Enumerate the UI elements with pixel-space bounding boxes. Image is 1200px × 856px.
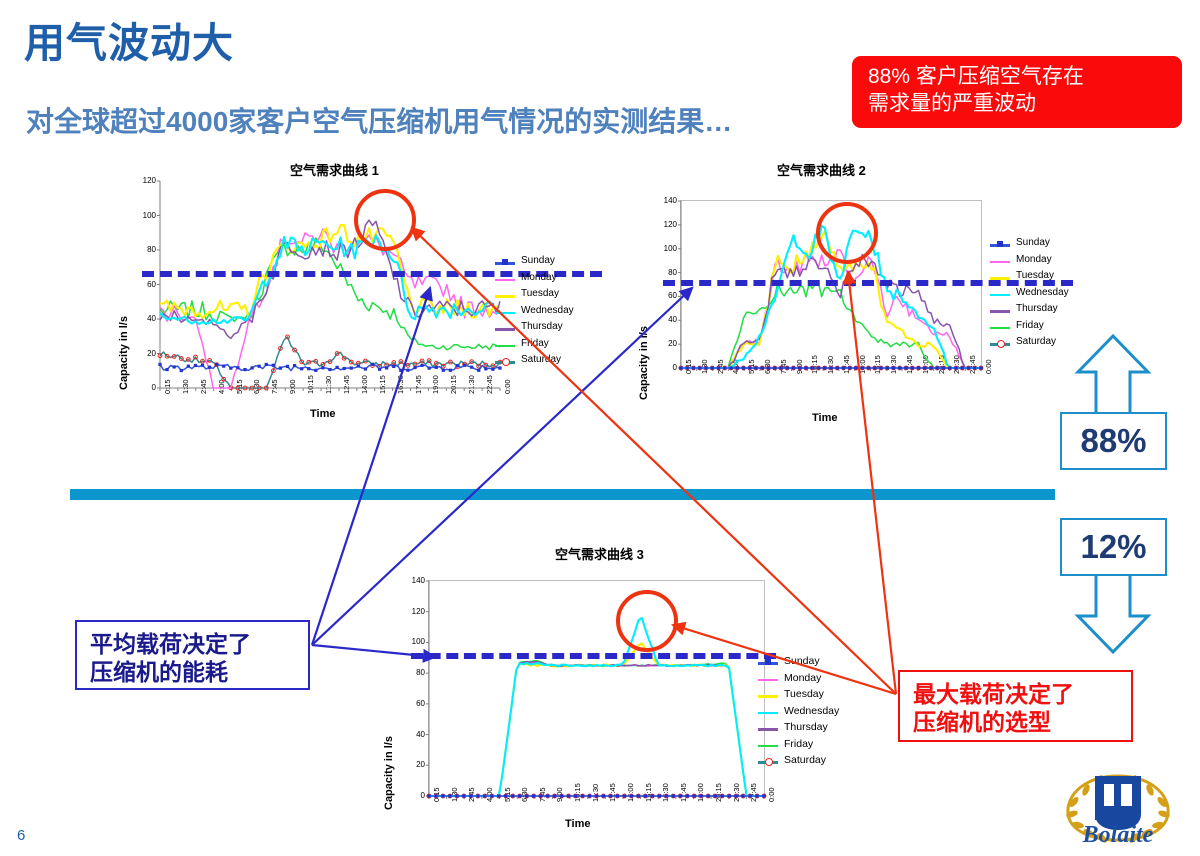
chart3-marker-sunday [748, 794, 751, 797]
chart1-marker-sunday [173, 365, 176, 368]
chart2-y-tick-label: 120 [651, 220, 677, 229]
chart3-series-thursday [429, 662, 764, 797]
chart3-title: 空气需求曲线 3 [555, 544, 644, 563]
chart2-marker-sunday [936, 366, 939, 369]
legend-label-wednesday: Wednesday [521, 305, 574, 316]
chart2-marker-sunday [961, 366, 964, 369]
chart1-marker-sunday [491, 368, 494, 371]
chart1-x-tick-label: 0:00 [503, 379, 512, 394]
chart3-marker-sunday [581, 794, 584, 797]
legend-swatch-wednesday [495, 312, 515, 315]
chart1-marker-sunday [442, 369, 445, 372]
average-load-box: 平均载荷决定了 压缩机的能耗 [75, 620, 310, 690]
chart3-marker-sunday [728, 794, 731, 797]
chart1-marker-sunday [165, 368, 168, 371]
chart3-marker-sunday [441, 794, 444, 797]
chart3-marker-sunday [504, 794, 507, 797]
chart2-marker-sunday [736, 366, 739, 369]
chart3-average-load-line [411, 653, 776, 659]
chart2-marker-sunday [861, 366, 864, 369]
chart3-marker-sunday [539, 794, 542, 797]
chart2-y-tick-label: 20 [651, 339, 677, 348]
legend-swatch-thursday [495, 328, 515, 331]
percent-88-value: 88% [1080, 422, 1146, 460]
chart2-plot-area: 0204060801001201400:151:302:454:005:156:… [680, 200, 982, 369]
chart1-x-axis-label: Time [310, 408, 335, 420]
legend-marker-saturday [997, 340, 1005, 348]
chart3-marker-sunday [637, 794, 640, 797]
legend-label-saturday: Saturday [784, 754, 826, 766]
legend-swatch-tuesday [758, 695, 778, 698]
chart2-marker-sunday [973, 366, 976, 369]
percent-12-value: 12% [1080, 528, 1146, 566]
chart2-marker-sunday [892, 366, 895, 369]
chart2-y-tick-label: 80 [651, 268, 677, 277]
legend-label-friday: Friday [521, 338, 549, 349]
chart1-y-tick-label: 120 [130, 176, 156, 185]
chart1-marker-sunday [314, 369, 317, 372]
chart1-marker-sunday [272, 364, 275, 367]
percent-12-box: 12% [1060, 518, 1167, 576]
chart3-y-tick-label: 20 [399, 760, 425, 769]
legend-swatch-wednesday [990, 294, 1010, 297]
chart2-marker-sunday [786, 366, 789, 369]
chart2-series-thursday [681, 255, 981, 368]
chart3-marker-sunday [567, 794, 570, 797]
chart2-marker-sunday [829, 366, 832, 369]
chart3-marker-sunday [518, 794, 521, 797]
chart2-marker-sunday [754, 366, 757, 369]
chart1-marker-sunday [229, 367, 232, 370]
chart1-marker-sunday [350, 366, 353, 369]
chart1-y-tick-label: 40 [130, 314, 156, 323]
chart2-y-tick-label: 40 [651, 315, 677, 324]
chart3-marker-sunday [497, 794, 500, 797]
legend-label-monday: Monday [521, 272, 557, 283]
chart2-marker-sunday [848, 366, 851, 369]
chart3-y-tick-label: 140 [399, 576, 425, 585]
chart1-marker-sunday [406, 369, 409, 372]
chart3-marker-sunday [476, 794, 479, 797]
chart3-marker-sunday [658, 794, 661, 797]
chart1-marker-sunday [328, 368, 331, 371]
chart2-marker-sunday [979, 366, 982, 369]
chart3-marker-sunday [700, 794, 703, 797]
chart2-marker-sunday [923, 366, 926, 369]
chart1-y-tick-label: 0 [130, 383, 156, 392]
chart1-marker-sunday [258, 365, 261, 368]
chart2-marker-sunday [729, 366, 732, 369]
chart3-marker-sunday [560, 794, 563, 797]
legend-swatch-thursday [990, 310, 1010, 313]
legend-label-friday: Friday [1016, 320, 1044, 331]
chart2-marker-sunday [873, 366, 876, 369]
chart1-axes [160, 181, 500, 388]
legend-label-wednesday: Wednesday [784, 705, 839, 717]
legend-swatch-tuesday [495, 295, 515, 298]
red-callout-line2: 需求量的严重波动 [868, 91, 1168, 118]
chart3-x-tick-label: 0:00 [767, 787, 776, 802]
chart1-marker-sunday [357, 364, 360, 367]
chart3-marker-sunday [448, 794, 451, 797]
chart-air-demand-1: 空气需求曲线 1 Capacity in l/s Time 0204060801… [110, 160, 530, 425]
legend-marker-sunday [765, 659, 771, 665]
chart2-marker-sunday [679, 366, 682, 369]
chart3-marker-sunday [532, 794, 535, 797]
legend-label-thursday: Thursday [784, 721, 828, 733]
chart2-marker-sunday [798, 366, 801, 369]
legend-label-sunday: Sunday [784, 655, 820, 667]
chart1-marker-sunday [194, 364, 197, 367]
chart1-series-wednesday [160, 235, 500, 324]
chart1-marker-sunday [392, 365, 395, 368]
legend-label-sunday: Sunday [1016, 237, 1050, 248]
chart3-marker-sunday [490, 794, 493, 797]
legend-marker-saturday [502, 358, 510, 366]
chart2-y-tick-label: 100 [651, 244, 677, 253]
chart3-marker-sunday [623, 794, 626, 797]
chart2-marker-sunday [711, 366, 714, 369]
chart1-marker-sunday [215, 363, 218, 366]
chart1-marker-sunday [250, 366, 253, 369]
max-load-line2: 压缩机的选型 [913, 708, 1051, 737]
legend-swatch-friday [495, 345, 515, 348]
chart2-x-axis-label: Time [812, 412, 837, 424]
legend-label-monday: Monday [1016, 254, 1052, 265]
chart3-marker-sunday [714, 794, 717, 797]
chart1-marker-sunday [236, 366, 239, 369]
chart3-marker-sunday [427, 794, 430, 797]
chart1-marker-sunday [428, 367, 431, 370]
chart2-marker-sunday [942, 366, 945, 369]
legend-label-saturday: Saturday [521, 354, 561, 365]
chart2-marker-sunday [929, 366, 932, 369]
legend-swatch-tuesday [990, 277, 1010, 280]
legend-swatch-friday [990, 327, 1010, 330]
chart2-marker-sunday [948, 366, 951, 369]
chart1-marker-sunday [420, 364, 423, 367]
chart3-marker-sunday [525, 794, 528, 797]
chart2-marker-sunday [698, 366, 701, 369]
chart1-marker-sunday [321, 366, 324, 369]
chart3-marker-sunday [741, 794, 744, 797]
chart3-marker-sunday [602, 794, 605, 797]
chart3-x-axis-label: Time [565, 818, 590, 830]
chart2-marker-sunday [904, 366, 907, 369]
chart1-marker-sunday [413, 366, 416, 369]
chart2-marker-sunday [854, 366, 857, 369]
chart2-marker-sunday [954, 366, 957, 369]
legend-label-friday: Friday [784, 738, 813, 750]
chart1-marker-sunday [378, 368, 381, 371]
chart2-marker-sunday [967, 366, 970, 369]
red-callout-line1: 88% 客户压缩空气存在 [868, 64, 1168, 91]
chart3-marker-sunday [553, 794, 556, 797]
chart3-series-wednesday [429, 618, 764, 796]
legend-swatch-monday [990, 261, 1010, 264]
chart1-marker-sunday [484, 367, 487, 370]
max-load-box: 最大载荷决定了 压缩机的选型 [898, 670, 1133, 742]
legend-swatch-thursday [758, 728, 778, 731]
chart2-marker-sunday [823, 366, 826, 369]
legend-marker-sunday [502, 259, 508, 265]
legend-label-thursday: Thursday [521, 321, 563, 332]
percent-88-box: 88% [1060, 412, 1167, 470]
chart3-marker-sunday [672, 794, 675, 797]
chart3-marker-sunday [644, 794, 647, 797]
chart1-marker-sunday [463, 364, 466, 367]
chart3-marker-sunday [665, 794, 668, 797]
page-subtitle: 对全球超过4000家客户空气压缩机用气情况的实测结果… [26, 100, 732, 140]
chart2-marker-sunday [898, 366, 901, 369]
chart1-marker-sunday [201, 364, 204, 367]
chart2-marker-sunday [879, 366, 882, 369]
red-callout-box: 88% 客户压缩空气存在 需求量的严重波动 [852, 56, 1182, 128]
chart2-marker-sunday [704, 366, 707, 369]
chart2-marker-sunday [911, 366, 914, 369]
average-load-line1: 平均载荷决定了 [90, 630, 251, 659]
chart3-peak-load-highlight [616, 590, 678, 652]
chart3-marker-sunday [588, 794, 591, 797]
chart3-series-canvas [429, 581, 764, 796]
chart3-marker-sunday [511, 794, 514, 797]
legend-swatch-monday [758, 679, 778, 682]
chart1-marker-sunday [456, 364, 459, 367]
legend-label-sunday: Sunday [521, 255, 555, 266]
legend-marker-saturday [765, 758, 773, 766]
chart3-y-tick-label: 100 [399, 637, 425, 646]
chart1-title: 空气需求曲线 1 [290, 160, 379, 179]
chart3-marker-sunday [755, 794, 758, 797]
chart3-series-monday [429, 663, 764, 797]
chart1-marker-sunday [371, 363, 374, 366]
chart2-marker-sunday [717, 366, 720, 369]
chart2-marker-sunday [742, 366, 745, 369]
chart1-series-canvas [160, 181, 500, 388]
chart1-y-tick-label: 20 [130, 349, 156, 358]
chart1-marker-sunday [435, 366, 438, 369]
chart-air-demand-2: 空气需求曲线 2 Capacity in l/s Time 0204060801… [632, 160, 1072, 425]
chart3-marker-sunday [595, 794, 598, 797]
chart3-marker-sunday [469, 794, 472, 797]
chart3-axes [429, 581, 764, 796]
legend-marker-sunday [997, 241, 1003, 247]
chart2-marker-sunday [686, 366, 689, 369]
page-title: 用气波动大 [24, 22, 234, 65]
chart2-y-tick-label: 0 [651, 363, 677, 372]
chart3-y-tick-label: 120 [399, 607, 425, 616]
chart3-marker-sunday [686, 794, 689, 797]
legend-label-tuesday: Tuesday [521, 288, 559, 299]
chart1-marker-sunday [208, 366, 211, 369]
chart2-peak-load-highlight [816, 202, 878, 264]
chart1-marker-sunday [307, 367, 310, 370]
chart3-marker-sunday [434, 794, 437, 797]
chart3-marker-sunday [462, 794, 465, 797]
chart1-marker-sunday [243, 368, 246, 371]
chart1-marker-sunday [449, 369, 452, 372]
chart3-marker-sunday [455, 794, 458, 797]
average-load-line2: 压缩机的能耗 [90, 658, 228, 687]
chart2-marker-sunday [792, 366, 795, 369]
chart2-marker-sunday [917, 366, 920, 369]
chart3-marker-sunday [679, 794, 682, 797]
chart2-x-tick-label: 0:00 [984, 359, 993, 374]
chart1-marker-sunday [286, 365, 289, 368]
chart3-marker-sunday [651, 794, 654, 797]
chart1-marker-sunday [158, 363, 161, 366]
chart1-marker-sunday [222, 365, 225, 368]
chart2-marker-sunday [811, 366, 814, 369]
chart1-plot-area: 0204060801001200:151:302:454:005:156:307… [160, 181, 500, 388]
legend-label-monday: Monday [784, 672, 821, 684]
chart2-marker-sunday [804, 366, 807, 369]
up-arrow-icon [1078, 336, 1148, 414]
chart3-marker-sunday [693, 794, 696, 797]
chart3-y-tick-label: 40 [399, 730, 425, 739]
chart3-marker-sunday [609, 794, 612, 797]
page-number: 6 [17, 827, 25, 844]
legend-label-saturday: Saturday [1016, 336, 1056, 347]
legend-label-thursday: Thursday [1016, 303, 1058, 314]
chart3-y-tick-label: 60 [399, 699, 425, 708]
chart1-marker-sunday [498, 366, 501, 369]
legend-swatch-monday [495, 279, 515, 282]
chart2-y-tick-label: 140 [651, 196, 677, 205]
legend-label-tuesday: Tuesday [1016, 270, 1054, 281]
chart2-marker-sunday [867, 366, 870, 369]
chart2-y-axis-label: Capacity in l/s [638, 326, 650, 400]
divider-bar [70, 489, 1055, 500]
chart2-marker-sunday [836, 366, 839, 369]
chart3-y-tick-label: 0 [399, 791, 425, 800]
legend-swatch-friday [758, 745, 778, 748]
chart2-marker-sunday [767, 366, 770, 369]
chart1-peak-load-highlight [354, 189, 416, 251]
chart2-marker-sunday [748, 366, 751, 369]
chart1-marker-sunday [293, 364, 296, 367]
chart1-marker-sunday [180, 369, 183, 372]
chart2-marker-sunday [773, 366, 776, 369]
chart1-y-axis-label: Capacity in l/s [118, 316, 130, 390]
chart1-series-monday [160, 229, 500, 388]
chart2-series-friday [681, 282, 981, 368]
chart2-y-tick-label: 60 [651, 291, 677, 300]
chart-air-demand-3: 空气需求曲线 3 Capacity in l/s Time 0204060801… [375, 540, 815, 840]
legend-label-wednesday: Wednesday [1016, 287, 1069, 298]
chart3-marker-sunday [707, 794, 710, 797]
chart1-y-tick-label: 60 [130, 280, 156, 289]
chart3-y-tick-label: 80 [399, 668, 425, 677]
chart2-marker-sunday [842, 366, 845, 369]
chart1-y-tick-label: 100 [130, 211, 156, 220]
chart3-marker-sunday [574, 794, 577, 797]
chart3-series-friday [429, 661, 764, 796]
chart1-marker-sunday [399, 369, 402, 372]
chart1-marker-sunday [300, 367, 303, 370]
down-arrow-icon [1078, 574, 1148, 652]
chart1-marker-sunday [470, 366, 473, 369]
chart3-marker-sunday [630, 794, 633, 797]
chart2-marker-sunday [817, 366, 820, 369]
chart1-marker-sunday [279, 366, 282, 369]
chart3-marker-sunday [546, 794, 549, 797]
chart3-marker-sunday [483, 794, 486, 797]
chart1-marker-sunday [187, 365, 190, 368]
chart1-y-tick-label: 80 [130, 245, 156, 254]
chart3-plot-area: 0204060801001201400:151:302:454:005:156:… [428, 580, 765, 797]
chart2-title: 空气需求曲线 2 [777, 160, 866, 179]
chart1-marker-sunday [364, 367, 367, 370]
chart1-marker-sunday [343, 367, 346, 370]
chart3-marker-sunday [616, 794, 619, 797]
chart3-marker-sunday [734, 794, 737, 797]
chart2-marker-sunday [692, 366, 695, 369]
chart1-marker-sunday [265, 363, 268, 366]
legend-label-tuesday: Tuesday [784, 688, 824, 700]
chart3-marker-sunday [721, 794, 724, 797]
chart2-average-load-line [663, 280, 1073, 286]
chart2-marker-sunday [779, 366, 782, 369]
chart3-marker-sunday [762, 794, 765, 797]
brand-wordmark: Bolaite [1048, 822, 1188, 849]
chart1-marker-sunday [335, 366, 338, 369]
chart2-marker-sunday [886, 366, 889, 369]
chart1-marker-sunday [385, 366, 388, 369]
chart2-marker-sunday [761, 366, 764, 369]
chart3-y-axis-label: Capacity in l/s [383, 736, 395, 810]
chart1-marker-sunday [477, 369, 480, 372]
max-load-line1: 最大载荷决定了 [913, 680, 1074, 709]
chart2-marker-sunday [723, 366, 726, 369]
legend-swatch-wednesday [758, 712, 778, 715]
slide-root: 用气波动大 对全球超过4000家客户空气压缩机用气情况的实测结果… 88% 客户… [0, 0, 1200, 856]
